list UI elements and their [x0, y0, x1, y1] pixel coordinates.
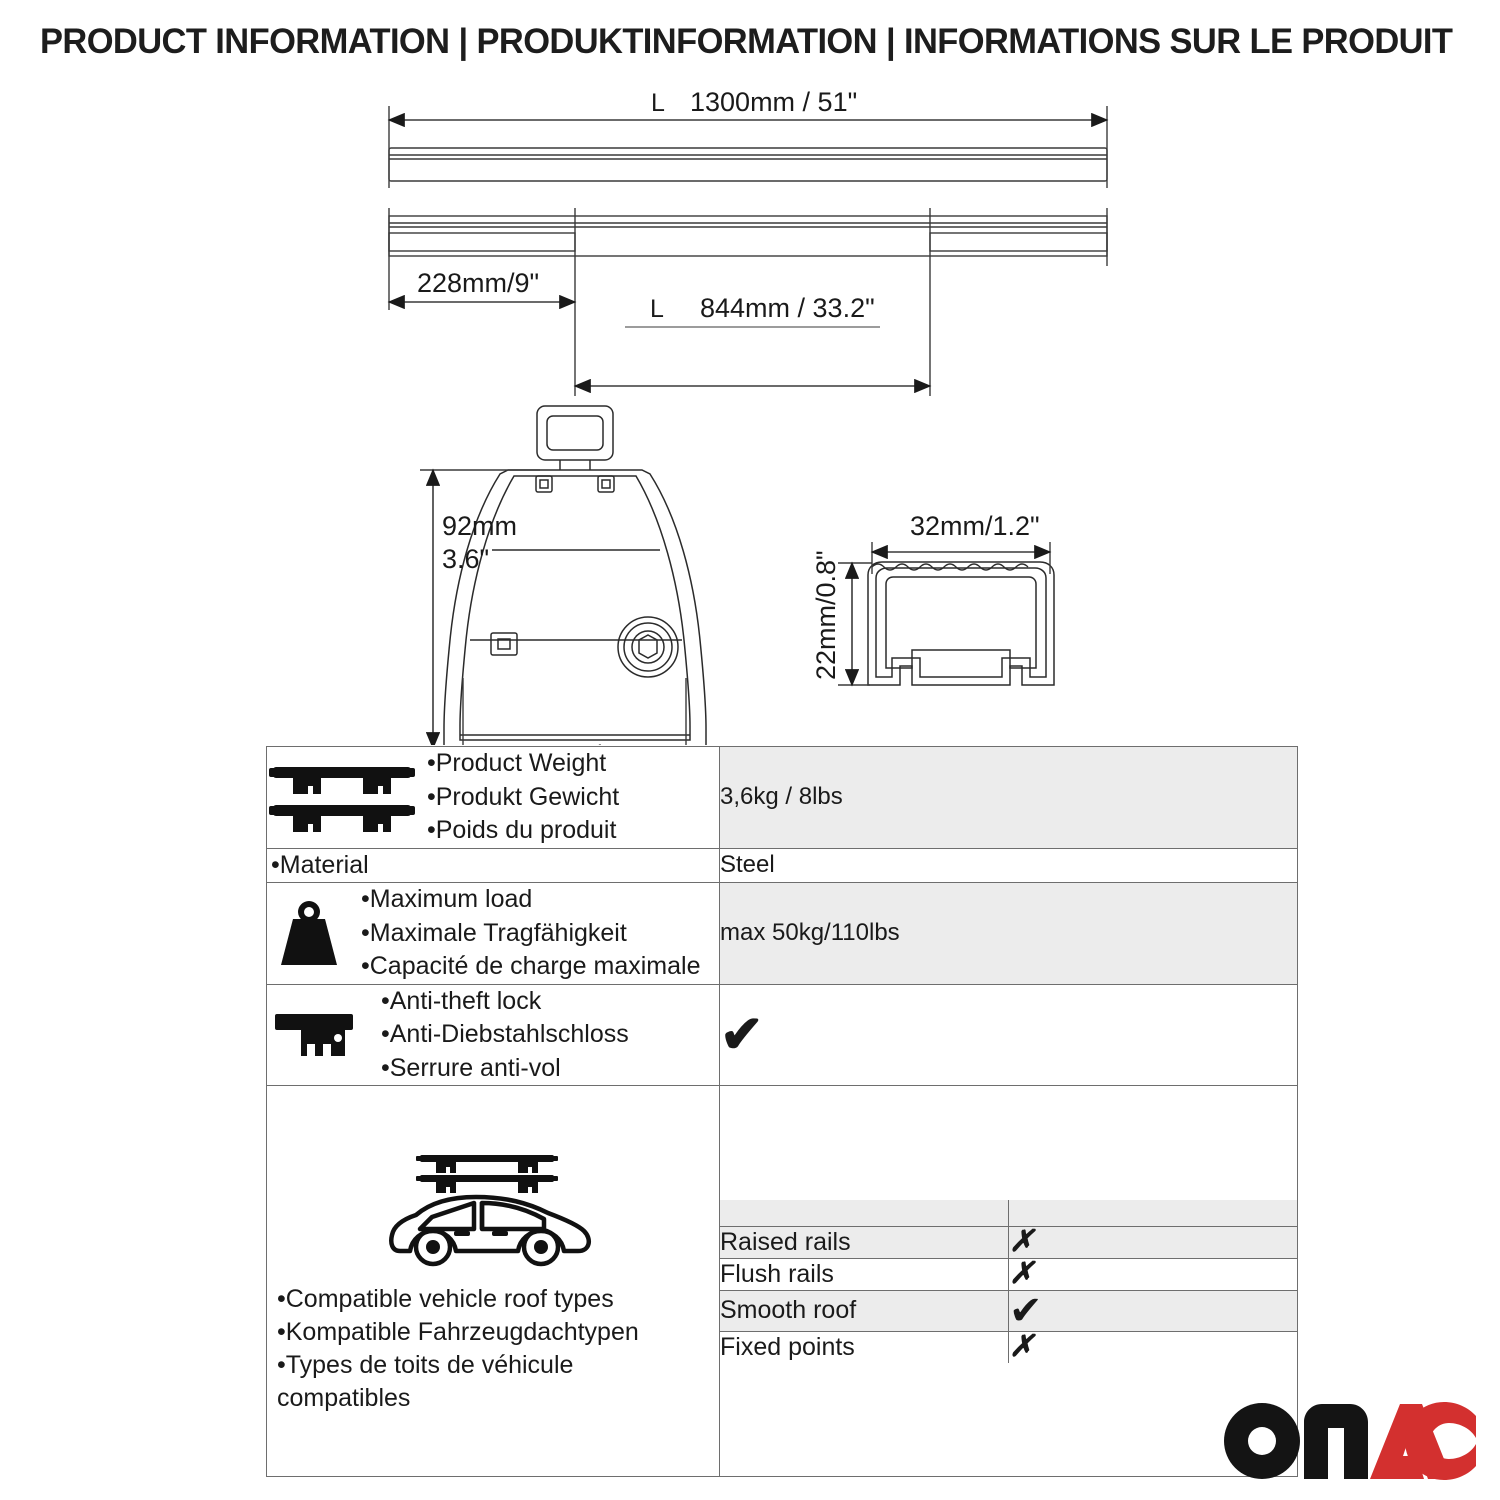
specification-table: •Product Weight •Produkt Gewicht •Poids …: [266, 746, 1298, 1477]
label-text-material: •Material: [267, 849, 719, 883]
profile-cross-section: [868, 562, 1054, 685]
check-mark: ✔: [1009, 1291, 1043, 1331]
span-prefix: L: [650, 295, 664, 323]
profile-width-label: 32mm/1.2": [910, 511, 1040, 541]
row-label-compatibility: •Compatible vehicle roof types •Kompatib…: [267, 1086, 720, 1477]
omac-logo: [1222, 1400, 1476, 1482]
table-row-material: •Material Steel: [267, 848, 1298, 883]
label-line: •Product Weight: [427, 747, 719, 781]
crossbars-icon: [267, 759, 417, 835]
row-value-max-load: max 50kg/110lbs: [720, 883, 1298, 985]
span-length-label: 844mm / 33.2": [700, 293, 875, 323]
cross-mark: ✗: [1009, 1227, 1034, 1257]
bar-length-label: 1300mm / 51": [690, 87, 857, 117]
label-line: •Poids du produit: [427, 814, 719, 848]
row-value-material: Steel: [720, 848, 1298, 883]
row-label-weight: •Product Weight •Produkt Gewicht •Poids …: [267, 747, 720, 849]
compat-spacer-row: [720, 1200, 1297, 1227]
label-text-max-load: •Maximum load •Maximale Tragfähigkeit •C…: [361, 883, 719, 984]
label-line: •Maximale Tragfähigkeit: [361, 917, 719, 951]
page-title: PRODUCT INFORMATION | PRODUKTINFORMATION…: [40, 22, 1449, 62]
label-line: •Capacité de charge maximale: [361, 950, 719, 984]
foot-height-mm-label: 92mm: [442, 511, 517, 541]
label-text-weight: •Product Weight •Produkt Gewicht •Poids …: [427, 747, 719, 848]
label-line: •Kompatible Fahrzeugdachtypen: [277, 1316, 639, 1349]
foot-width-label: 104mm / 4": [496, 740, 633, 745]
compatibility-table: Raised rails ✗ Flush rails ✗: [720, 1200, 1297, 1363]
bar-length-prefix: L: [651, 89, 665, 117]
compat-name-flush-rails: Flush rails: [720, 1258, 1009, 1290]
label-text-anti-theft-lock: •Anti-theft lock •Anti-Diebstahlschloss …: [381, 985, 719, 1086]
compat-mark-flush-rails: ✗: [1009, 1258, 1298, 1290]
compat-row-flush-rails: Flush rails ✗: [720, 1258, 1297, 1290]
lock-icon: [267, 1002, 371, 1068]
compat-row-fixed-points: Fixed points ✗: [720, 1331, 1297, 1363]
foot-offset-label: 228mm/9": [417, 268, 539, 298]
table-row-compatibility: •Compatible vehicle roof types •Kompatib…: [267, 1086, 1298, 1477]
row-label-anti-theft-lock: •Anti-theft lock •Anti-Diebstahlschloss …: [267, 984, 720, 1086]
label-line: •Compatible vehicle roof types: [277, 1283, 639, 1316]
label-line: •Anti-theft lock: [381, 985, 719, 1019]
car-with-roof-rack-icon: [378, 1147, 608, 1277]
check-mark: ✔: [720, 1009, 764, 1061]
compat-row-smooth-roof: Smooth roof ✔: [720, 1290, 1297, 1331]
label-line: •Types de toits de véhicule: [277, 1349, 639, 1382]
label-line: •Anti-Diebstahlschloss: [381, 1018, 719, 1052]
compat-mark-raised-rails: ✗: [1009, 1226, 1298, 1258]
product-information-page: PRODUCT INFORMATION | PRODUKTINFORMATION…: [0, 0, 1500, 1500]
label-line-wrap: compatibles: [277, 1382, 639, 1415]
technical-drawing: L 1300mm / 51" 228mm/9" L 844mm / 33.2": [0, 80, 1500, 745]
compat-mark-smooth-roof: ✔: [1009, 1290, 1298, 1331]
compat-name-fixed-points: Fixed points: [720, 1331, 1009, 1363]
row-value-anti-theft-lock: ✔: [720, 984, 1298, 1086]
label-line: •Serrure anti-vol: [381, 1052, 719, 1086]
label-line: •Material: [271, 849, 719, 883]
row-label-material: •Material: [267, 848, 720, 883]
label-text-compatibility: •Compatible vehicle roof types •Kompatib…: [267, 1283, 639, 1415]
label-line: •Produkt Gewicht: [427, 781, 719, 815]
cross-mark: ✗: [1009, 1259, 1034, 1289]
weight-icon: [267, 895, 351, 971]
spacer-cell-left: [720, 1200, 1009, 1227]
table-row-max-load: •Maximum load •Maximale Tragfähigkeit •C…: [267, 883, 1298, 985]
table-row-weight: •Product Weight •Produkt Gewicht •Poids …: [267, 747, 1298, 849]
row-value-weight: 3,6kg / 8lbs: [720, 747, 1298, 849]
spacer-cell-right: [1009, 1200, 1298, 1227]
label-line: •Maximum load: [361, 883, 719, 917]
foot-height-in-label: 3.6": [442, 544, 489, 574]
cross-mark: ✗: [1009, 1332, 1034, 1362]
profile-height-label: 22mm/0.8": [811, 550, 841, 680]
compat-row-raised-rails: Raised rails ✗: [720, 1226, 1297, 1258]
foot-bracket-drawing: [444, 406, 706, 745]
compat-name-raised-rails: Raised rails: [720, 1226, 1009, 1258]
table-row-anti-theft-lock: •Anti-theft lock •Anti-Diebstahlschloss …: [267, 984, 1298, 1086]
compatibility-options-cell: Raised rails ✗ Flush rails ✗: [720, 1086, 1298, 1477]
row-label-max-load: •Maximum load •Maximale Tragfähigkeit •C…: [267, 883, 720, 985]
compat-name-smooth-roof: Smooth roof: [720, 1290, 1009, 1331]
compat-mark-fixed-points: ✗: [1009, 1331, 1298, 1363]
